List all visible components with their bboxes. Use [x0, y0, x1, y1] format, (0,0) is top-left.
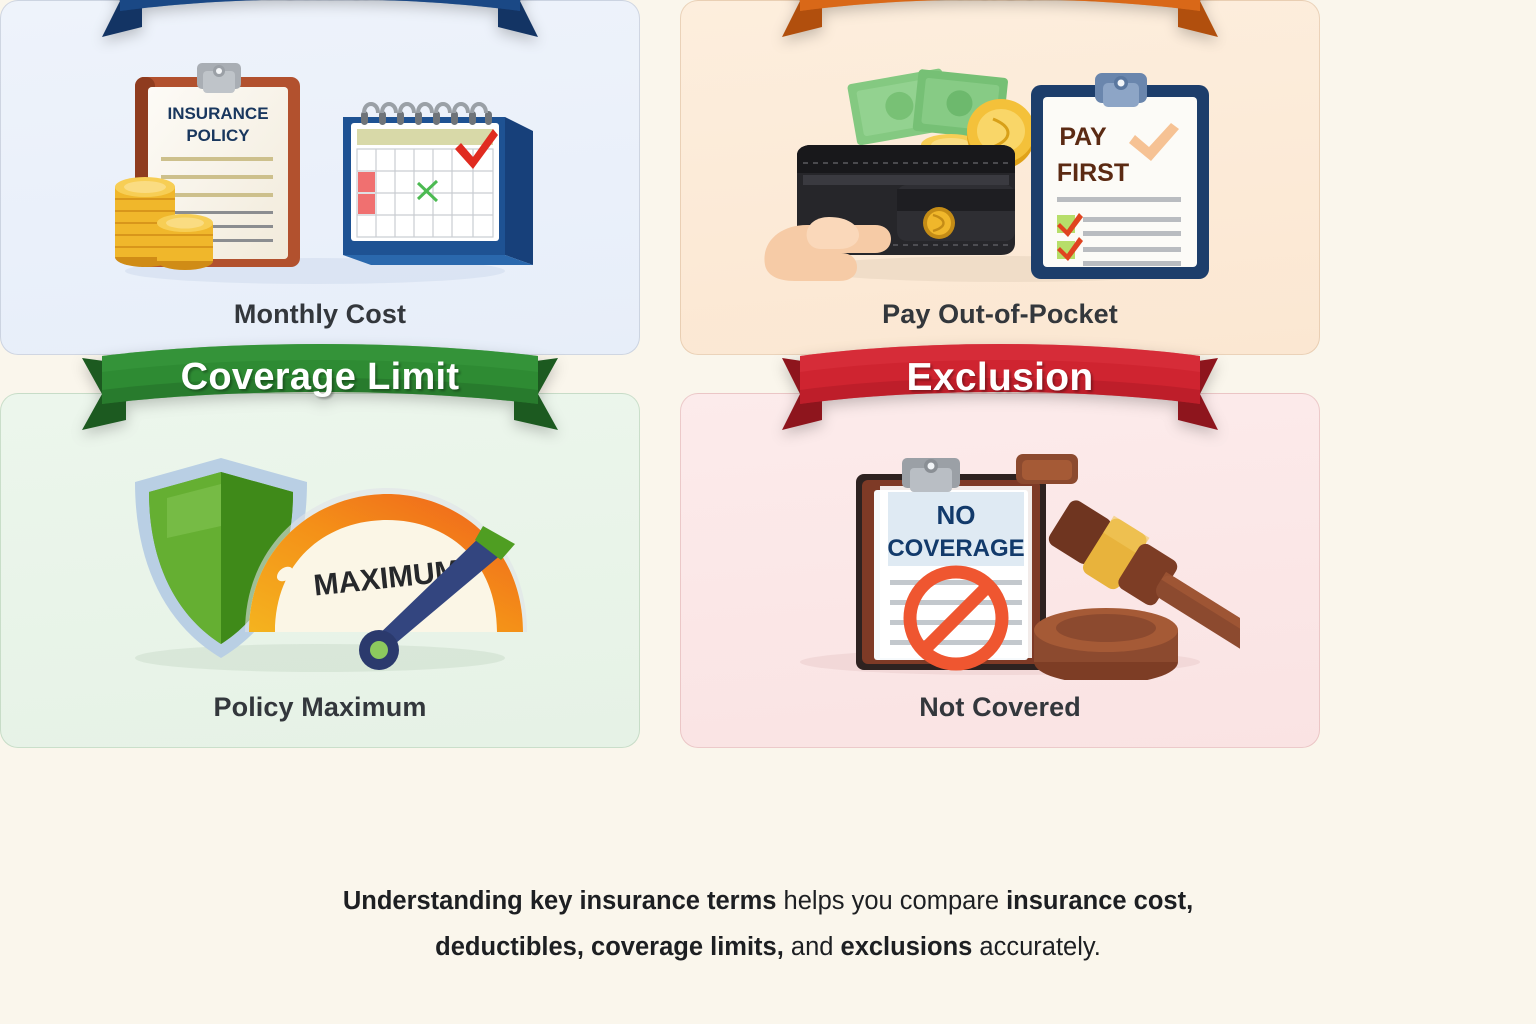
summary-bold-3: deductibles, coverage limits, [435, 933, 784, 961]
summary-bold-2: insurance cost, [1006, 887, 1193, 915]
art-exclusion: NO COVERAGE [681, 450, 1319, 680]
card-coverage-limit[interactable]: Coverage Limit [0, 393, 640, 748]
summary-regular-2: and [784, 933, 841, 961]
art-coverage-limit: MAXIMUM [1, 450, 639, 680]
art-deductible: PAY FIRST [681, 57, 1319, 287]
summary-paragraph: Understanding key insurance terms helps … [0, 878, 1536, 970]
svg-text:COVERAGE: COVERAGE [887, 535, 1024, 562]
ribbon-coverage-limit: Coverage Limit [70, 342, 570, 438]
svg-text:INSURANCE: INSURANCE [167, 104, 268, 123]
svg-text:FIRST: FIRST [1057, 159, 1129, 187]
card-deductible[interactable]: Deductible [680, 0, 1320, 355]
infographic-page: Premium INSURANCE POLIC [0, 0, 1536, 1024]
svg-text:PAY: PAY [1059, 123, 1107, 151]
summary-bold-1: Understanding key insurance terms [343, 887, 777, 915]
summary-bold-4: exclusions [841, 933, 973, 961]
caption-coverage-limit: Policy Maximum [1, 692, 639, 723]
ribbon-deductible: Deductible [770, 0, 1230, 45]
art-premium: INSURANCE POLICY [1, 57, 639, 287]
summary-regular-1: helps you compare [776, 887, 1006, 915]
summary-regular-3: accurately. [972, 933, 1101, 961]
card-exclusion[interactable]: Exclusion NO COVERAGE [680, 393, 1320, 748]
caption-deductible: Pay Out-of-Pocket [681, 299, 1319, 330]
caption-premium: Monthly Cost [1, 299, 639, 330]
caption-exclusion: Not Covered [681, 692, 1319, 723]
ribbon-exclusion: Exclusion [770, 342, 1230, 438]
svg-text:NO: NO [937, 500, 976, 530]
svg-text:POLICY: POLICY [186, 126, 250, 145]
ribbon-premium: Premium [90, 0, 550, 45]
card-premium[interactable]: Premium INSURANCE POLIC [0, 0, 640, 355]
